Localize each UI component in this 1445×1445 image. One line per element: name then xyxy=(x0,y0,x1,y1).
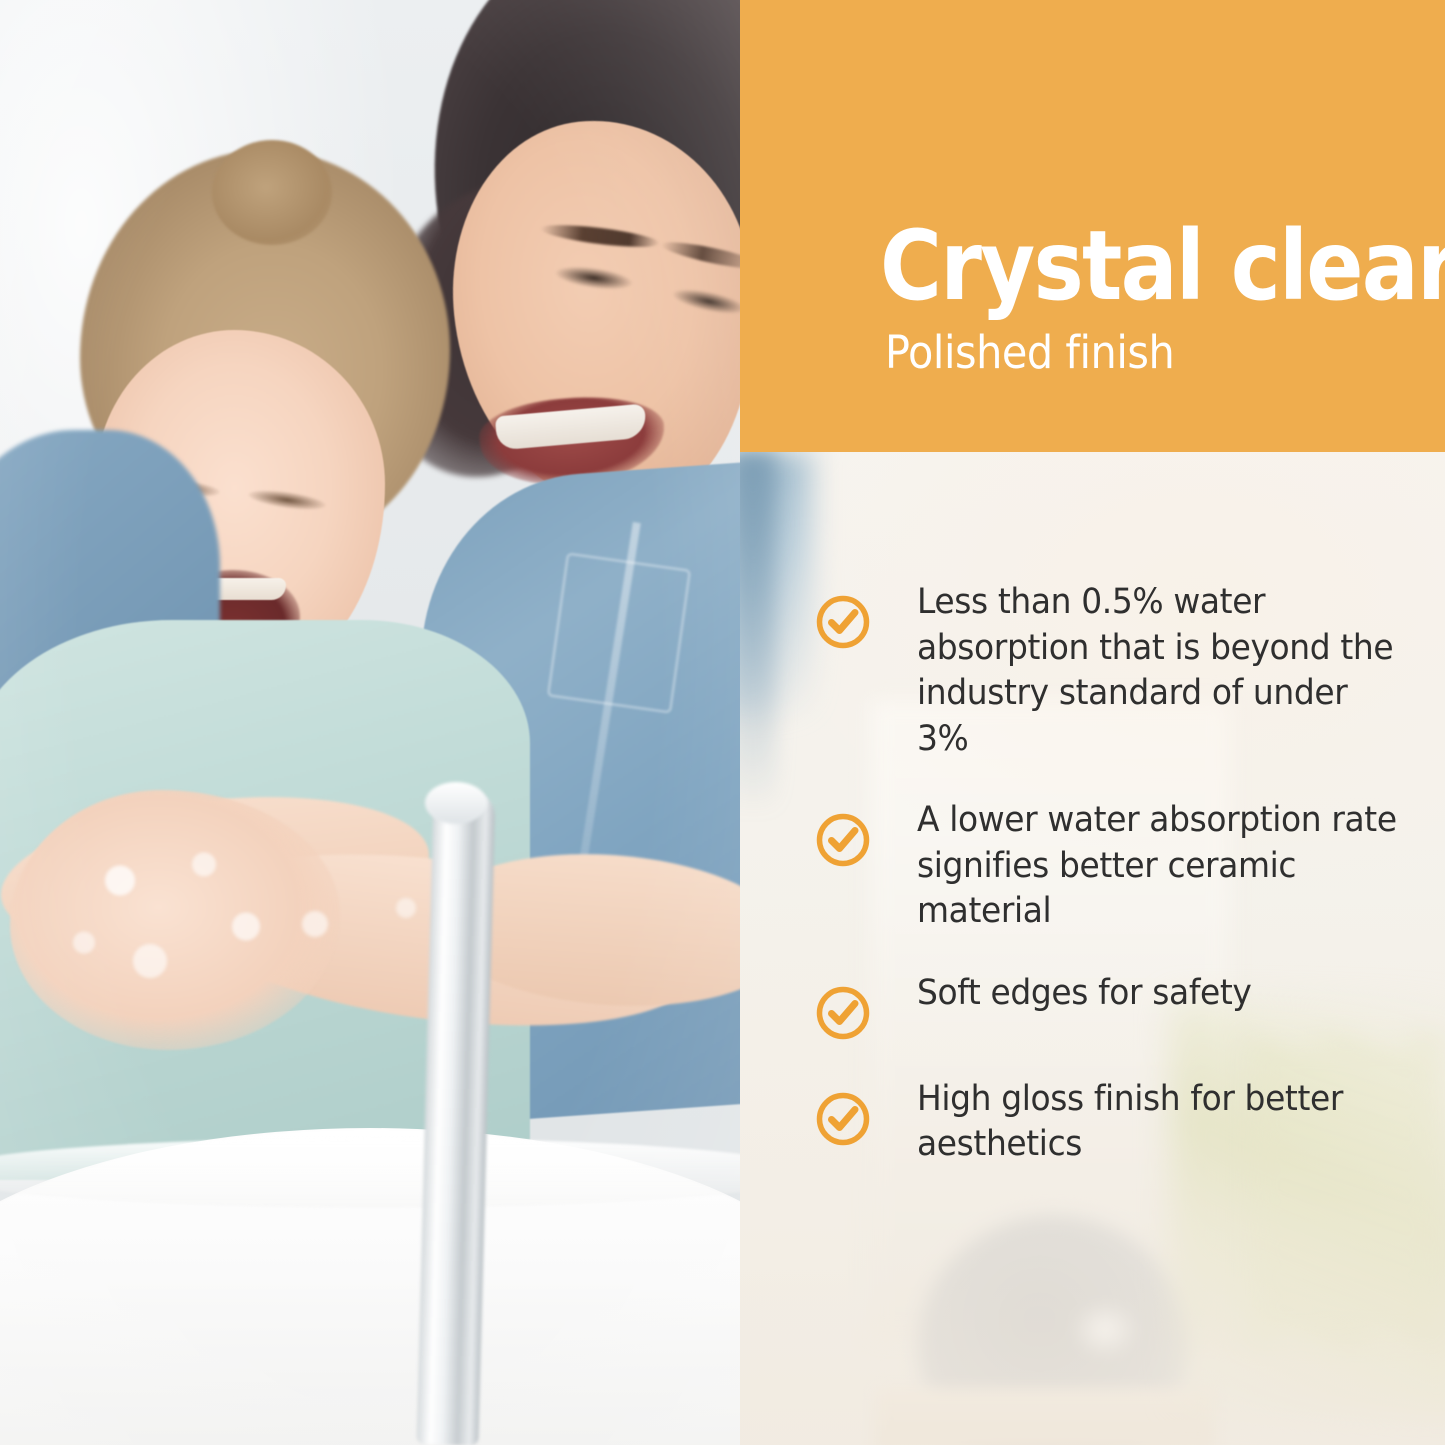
page-title: Crystal clear xyxy=(880,218,1445,314)
page-subtitle: Polished finish xyxy=(885,330,1174,375)
product-feature-banner: Crystal clear Polished finish Less than … xyxy=(0,0,1445,1445)
header-band: Crystal clear Polished finish xyxy=(740,0,1445,452)
list-item: Soft edges for safety xyxy=(815,971,1435,1041)
check-circle-icon xyxy=(815,1091,871,1147)
list-item-label: Soft edges for safety xyxy=(917,971,1404,1017)
list-item: A lower water absorption rate signifies … xyxy=(815,798,1435,935)
list-item-label: High gloss finish for better aesthetics xyxy=(917,1077,1404,1168)
list-item-label: Less than 0.5% water absorption that is … xyxy=(917,580,1404,762)
feature-list: Less than 0.5% water absorption that is … xyxy=(815,580,1435,1168)
check-circle-icon xyxy=(815,594,871,650)
content-panel: Crystal clear Polished finish Less than … xyxy=(740,0,1445,1445)
lifestyle-photo-handwashing xyxy=(0,0,740,1445)
check-circle-icon xyxy=(815,985,871,1041)
list-item: High gloss finish for better aesthetics xyxy=(815,1077,1435,1168)
photo-vignette xyxy=(0,0,740,1445)
list-item-label: A lower water absorption rate signifies … xyxy=(917,798,1404,935)
list-item: Less than 0.5% water absorption that is … xyxy=(815,580,1435,762)
check-circle-icon xyxy=(815,812,871,868)
